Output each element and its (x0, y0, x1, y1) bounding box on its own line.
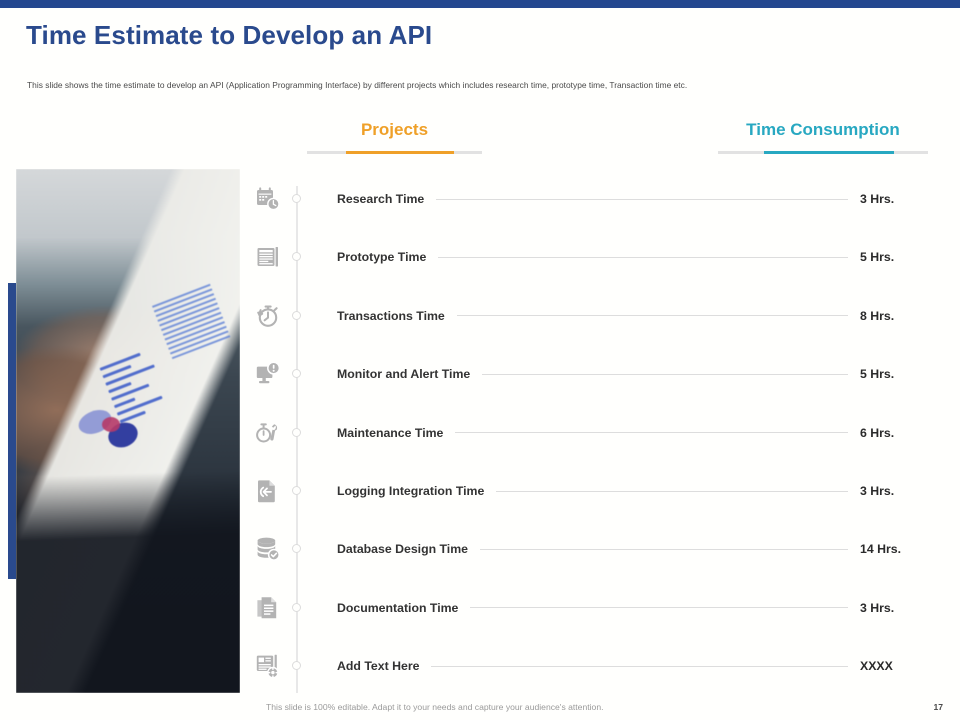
documents-copy-icon (250, 590, 286, 626)
database-check-icon (250, 531, 286, 567)
top-accent-bar (0, 0, 960, 8)
time-value: 8 Hrs. (860, 309, 950, 323)
time-value: 5 Hrs. (860, 250, 950, 264)
project-label: Research Time (337, 192, 424, 206)
time-value: 6 Hrs. (860, 426, 950, 440)
connector-line (470, 607, 848, 608)
file-import-icon (250, 473, 286, 509)
photo-accent-bar (8, 283, 16, 579)
time-value: 3 Hrs. (860, 192, 950, 206)
table-row[interactable]: Maintenance Time6 Hrs. (250, 413, 950, 453)
tablet-photo-image (16, 169, 240, 693)
photo-chart-pie-accent (102, 417, 120, 432)
table-row[interactable]: Add Text HereXXXX (250, 646, 950, 686)
connector-line (496, 491, 848, 492)
slide-description: This slide shows the time estimate to de… (27, 80, 927, 90)
project-label: Logging Integration Time (337, 484, 484, 498)
project-label: Maintenance Time (337, 426, 443, 440)
column-header-projects: Projects (307, 119, 482, 154)
column-header-projects-label: Projects (307, 119, 482, 141)
table-row[interactable]: Monitor and Alert Time5 Hrs. (250, 354, 950, 394)
time-value: 5 Hrs. (860, 367, 950, 381)
project-label: Prototype Time (337, 250, 426, 264)
report-document-icon (250, 239, 286, 275)
connector-line (482, 374, 848, 375)
project-label: Documentation Time (337, 601, 458, 615)
time-value: XXXX (860, 659, 950, 673)
page-title: Time Estimate to Develop an API (26, 20, 432, 51)
connector-line (431, 666, 848, 667)
monitor-alert-icon (250, 356, 286, 392)
project-label: Transactions Time (337, 309, 445, 323)
report-settings-icon (250, 648, 286, 684)
connector-line (457, 315, 848, 316)
tablet-photo (16, 169, 240, 693)
table-row[interactable]: Logging Integration Time3 Hrs. (250, 471, 950, 511)
column-header-time-consumption-label: Time Consumption (718, 119, 928, 141)
connector-line (436, 199, 848, 200)
table-row[interactable]: Prototype Time5 Hrs. (250, 237, 950, 277)
column-header-time-consumption-underline (718, 151, 928, 154)
column-header-time-consumption: Time Consumption (718, 119, 928, 154)
page-number: 17 (933, 702, 943, 712)
connector-line (438, 257, 848, 258)
column-header-projects-underline (307, 151, 482, 154)
footer-note: This slide is 100% editable. Adapt it to… (266, 702, 604, 712)
time-value: 3 Hrs. (860, 484, 950, 498)
project-label: Monitor and Alert Time (337, 367, 470, 381)
table-row[interactable]: Database Design Time14 Hrs. (250, 529, 950, 569)
table-row[interactable]: Transactions Time8 Hrs. (250, 296, 950, 336)
calendar-clock-icon (250, 181, 286, 217)
time-value: 3 Hrs. (860, 601, 950, 615)
connector-line (480, 549, 848, 550)
stopwatch-wrench-icon (250, 415, 286, 451)
project-label: Database Design Time (337, 542, 468, 556)
time-value: 14 Hrs. (860, 542, 950, 556)
stopwatch-icon (250, 298, 286, 334)
connector-line (455, 432, 848, 433)
table-row[interactable]: Documentation Time3 Hrs. (250, 588, 950, 628)
project-label: Add Text Here (337, 659, 419, 673)
table-row[interactable]: Research Time3 Hrs. (250, 179, 950, 219)
